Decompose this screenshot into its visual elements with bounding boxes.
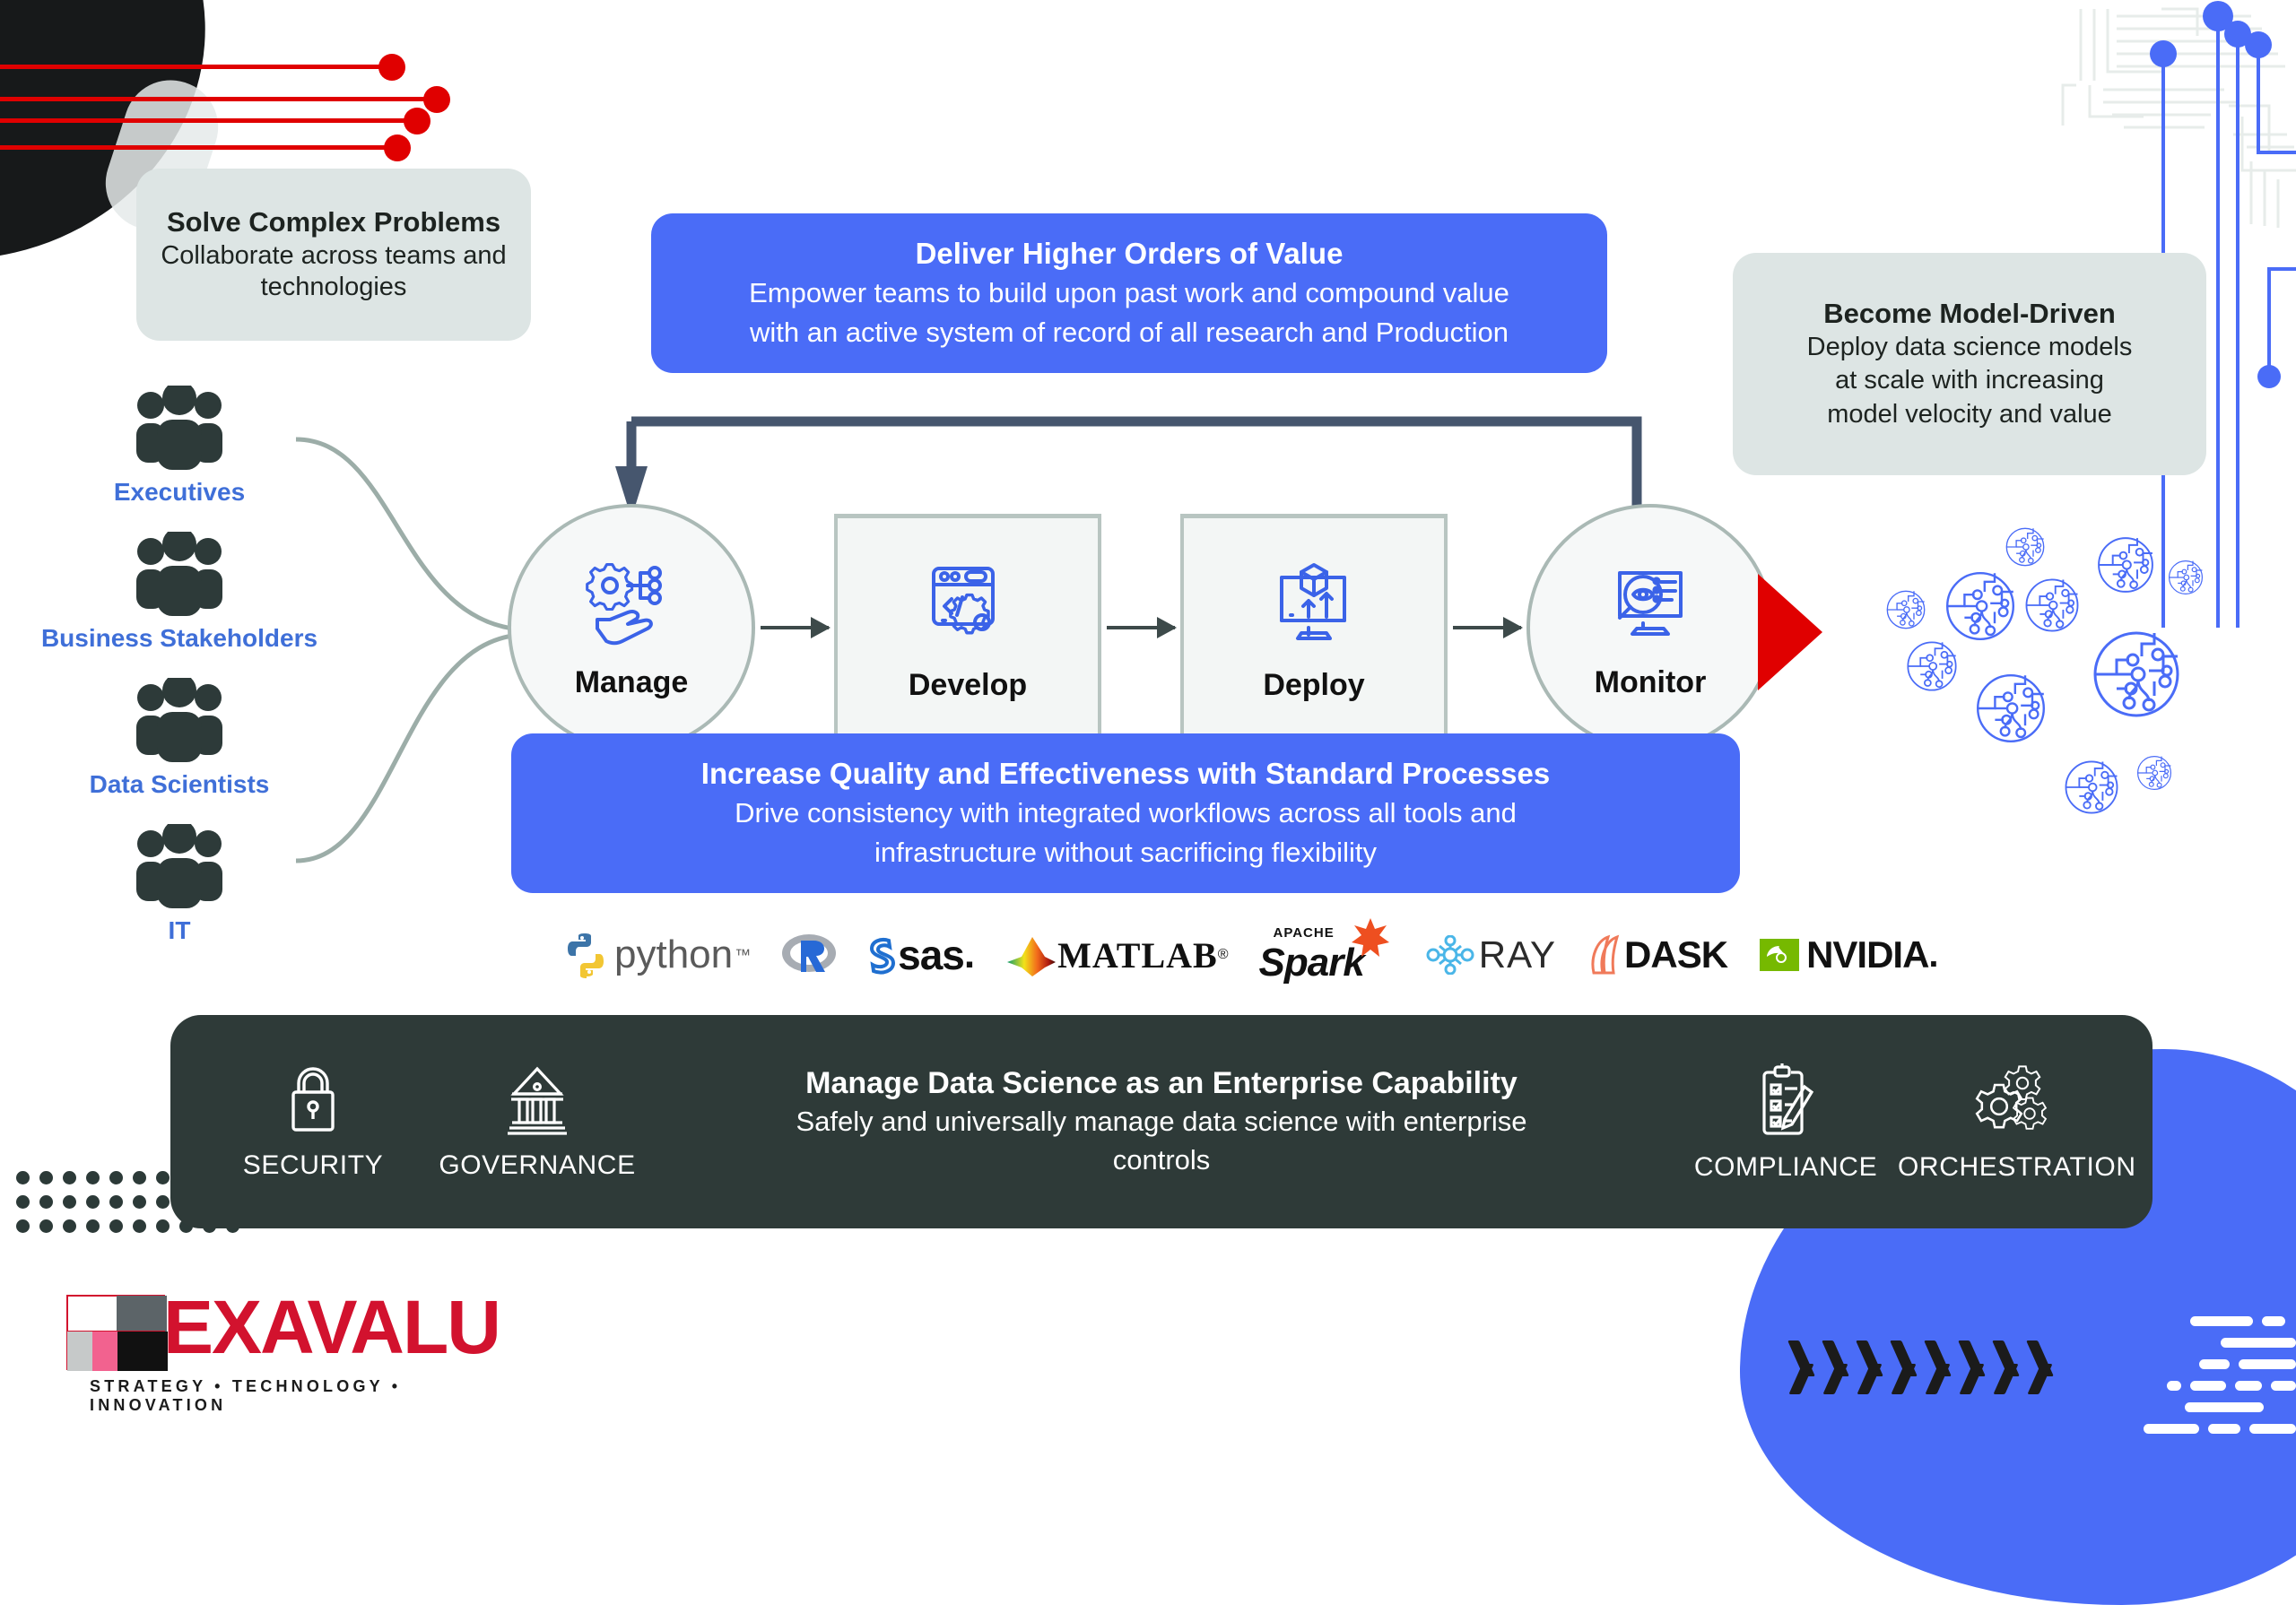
red-line-3 [0, 118, 420, 123]
become-model-driven-line1: Deploy data science models [1807, 332, 2133, 363]
persona-label: Business Stakeholders [31, 624, 327, 653]
pipeline-stage-label: Develop [909, 668, 1027, 703]
logo-label: DASK [1624, 933, 1727, 976]
pipeline-stage-develop[interactable]: Develop [834, 514, 1101, 742]
monitor-magnifier-eye-icon [1604, 555, 1697, 653]
logo-sublabel: APACHE [1274, 925, 1335, 941]
bank-columns-icon [500, 1125, 575, 1141]
model-bubble-cluster [1812, 520, 2242, 861]
exavalu-tagline: STRATEGY • TECHNOLOGY • INNOVATION [90, 1377, 461, 1415]
solve-complex-problems-card: Solve Complex Problems Collaborate acros… [136, 169, 531, 341]
people-group-icon [117, 460, 242, 475]
pipeline-stage-deploy[interactable]: Deploy [1180, 514, 1448, 742]
become-model-driven-card: Become Model-Driven Deploy data science … [1733, 253, 2206, 475]
people-group-icon [117, 606, 242, 621]
logo-r-project [781, 930, 837, 980]
deliver-higher-orders-card: Deliver Higher Orders of Value Empower t… [651, 213, 1607, 373]
red-dot-4 [384, 134, 411, 161]
deliver-higher-orders-line2: with an active system of record of all r… [750, 315, 1509, 351]
logo-ray: RAY [1425, 933, 1556, 976]
persona-data-scientists[interactable]: Data Scientists [31, 678, 327, 799]
dark-item-caption: COMPLIANCE [1674, 1152, 1898, 1183]
dark-item-caption: SECURITY [201, 1150, 425, 1181]
red-line-1 [0, 65, 395, 69]
dark-item-caption: ORCHESTRATION [1898, 1152, 2122, 1183]
logo-matlab: MATLAB ® [1005, 932, 1228, 978]
dark-item-security[interactable]: SECURITY [201, 1063, 425, 1181]
dark-item-caption: GOVERNANCE [425, 1150, 649, 1181]
persona-business-stakeholders[interactable]: Business Stakeholders [31, 532, 327, 653]
persona-it[interactable]: IT [31, 824, 327, 945]
deliver-higher-orders-line1: Empower teams to build upon past work an… [749, 275, 1509, 311]
pipeline-stage-label: Manage [575, 665, 689, 700]
red-dot-1 [378, 54, 405, 81]
logo-label: MATLAB [1057, 934, 1218, 976]
logo-label: NVIDIA [1806, 933, 1928, 976]
nvidia-period: . [1928, 935, 1938, 976]
dark-item-compliance[interactable]: COMPLIANCE [1674, 1062, 1898, 1183]
red-line-2 [0, 97, 439, 101]
persona-label: Data Scientists [31, 770, 327, 799]
padlock-icon [280, 1125, 346, 1141]
logo-dask: DASK [1587, 933, 1727, 976]
chevron-row-decoration [1794, 1340, 2063, 1391]
become-model-driven-title: Become Model-Driven [1823, 298, 2116, 330]
tech-logo-row: python ™ sas . [561, 922, 1939, 988]
arrow-develop-to-deploy [1107, 626, 1175, 629]
red-dot-2 [423, 86, 450, 113]
logo-nvidia: NVIDIA . [1758, 933, 1938, 976]
logo-label: RAY [1479, 933, 1556, 976]
enterprise-capability-line1: Safely and universally manage data scien… [665, 1104, 1657, 1140]
dark-item-orchestration[interactable]: ORCHESTRATION [1898, 1062, 2122, 1183]
exavalu-logo[interactable]: EXAVALU STRATEGY • TECHNOLOGY • INNOVATI… [66, 1282, 461, 1403]
red-line-4 [0, 145, 400, 150]
registered-mark: ® [1218, 947, 1229, 963]
arrow-deploy-to-monitor [1453, 626, 1521, 629]
persona-label: Executives [31, 478, 327, 507]
slide-canvas: Solve Complex Problems Collaborate acros… [0, 0, 2296, 1453]
pipeline-stage-monitor[interactable]: Monitor [1526, 504, 1774, 751]
gears-icon [1969, 1127, 2051, 1142]
people-group-icon [117, 898, 242, 914]
clipboard-checklist-pen-icon [1752, 1127, 1819, 1142]
deliver-higher-orders-title: Deliver Higher Orders of Value [916, 236, 1344, 272]
trademark-mark: ™ [735, 946, 751, 965]
logo-label: python [614, 933, 733, 977]
pipeline-stage-label: Deploy [1263, 668, 1364, 703]
code-lines-decoration [2144, 1316, 2296, 1451]
gear-hand-icon [585, 555, 678, 653]
logo-sas: sas . [867, 931, 975, 979]
code-window-gear-icon [921, 558, 1014, 655]
dark-item-governance[interactable]: GOVERNANCE [425, 1063, 649, 1181]
increase-quality-title: Increase Quality and Effectiveness with … [701, 756, 1550, 792]
persona-list: Executives Business Stakeholders [31, 386, 327, 945]
monitor-box-arrows-icon [1267, 558, 1361, 655]
enterprise-capability-line2: controls [665, 1142, 1657, 1178]
logo-label: sas [898, 931, 964, 979]
arrow-manage-to-develop [761, 626, 829, 629]
solve-complex-problems-title: Solve Complex Problems [167, 206, 500, 239]
solve-complex-problems-subtitle: Collaborate across teams and technologie… [156, 240, 511, 304]
enterprise-capability-bar: SECURITY GOVERNANCE [170, 1015, 2152, 1228]
pipeline-stage-manage[interactable]: Manage [508, 504, 755, 751]
pipeline: Manage Develop [508, 504, 1774, 751]
enterprise-capability-text: Manage Data Science as an Enterprise Cap… [649, 1066, 1674, 1177]
pipeline-stage-label: Monitor [1595, 665, 1707, 700]
become-model-driven-line2: at scale with increasing [1835, 365, 2104, 396]
increase-quality-line2: infrastructure without sacrificing flexi… [874, 835, 1377, 871]
persona-label: IT [31, 916, 327, 945]
exavalu-wordmark: EXAVALU [163, 1289, 500, 1365]
people-group-icon [117, 752, 242, 768]
sas-period: . [964, 933, 975, 977]
become-model-driven-line3: model velocity and value [1827, 399, 2112, 430]
logo-python: python ™ [561, 930, 751, 980]
logo-label: Spark [1259, 941, 1364, 985]
red-dot-3 [404, 108, 430, 134]
increase-quality-card: Increase Quality and Effectiveness with … [511, 733, 1740, 893]
enterprise-capability-title: Manage Data Science as an Enterprise Cap… [665, 1066, 1657, 1101]
increase-quality-line1: Drive consistency with integrated workfl… [735, 795, 1517, 831]
persona-executives[interactable]: Executives [31, 386, 327, 507]
logo-apache-spark: APACHE Spark [1259, 925, 1364, 985]
